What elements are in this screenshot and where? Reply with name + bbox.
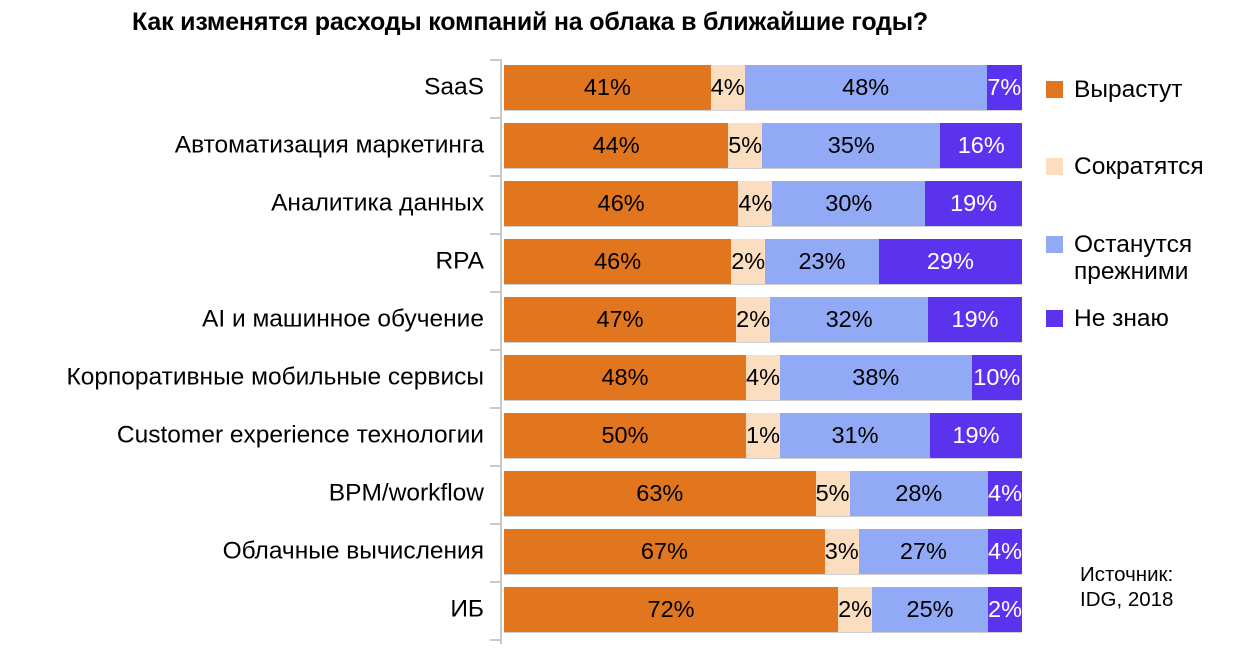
axis-tick <box>490 639 500 641</box>
category-label: SaaS <box>424 75 484 102</box>
axis-tick <box>490 175 500 177</box>
bar-segment-value: 4% <box>738 192 772 216</box>
bar-segment-value: 72% <box>648 598 695 622</box>
axis-tick <box>490 291 500 293</box>
legend-label: Останутся прежними <box>1074 231 1192 286</box>
bar-segment-value: 48% <box>601 366 648 390</box>
category-label: Аналитика данных <box>271 191 484 218</box>
category-label: BPM/workflow <box>329 481 484 508</box>
bar-segment[interactable]: 67% <box>504 529 825 574</box>
bar-segment[interactable]: 63% <box>504 471 816 516</box>
bar-segment-value: 5% <box>816 482 850 506</box>
bar-segment-value: 67% <box>641 540 688 564</box>
chart-title: Как изменятся расходы компаний на облака… <box>0 8 1060 37</box>
category-label: Облачные вычисления <box>223 539 484 566</box>
bar-segment-value: 2% <box>736 308 770 332</box>
bar-segment-value: 35% <box>828 134 875 158</box>
bar-segment[interactable]: 2% <box>731 239 765 284</box>
plot-area: SaaS41%4%48%7%Автоматизация маркетинга44… <box>0 59 1030 660</box>
bar-segment-value: 4% <box>988 540 1022 564</box>
source-note: Источник: IDG, 2018 <box>1080 562 1173 612</box>
bar-segment[interactable]: 23% <box>765 239 879 284</box>
bar-segment-value: 23% <box>798 250 845 274</box>
bar-segment[interactable]: 27% <box>859 529 988 574</box>
bar-segment[interactable]: 28% <box>850 471 988 516</box>
bar-row[interactable]: RPA46%2%23%29% <box>0 233 1030 291</box>
stacked-bar[interactable]: 47%2%32%19% <box>504 297 1022 342</box>
stacked-bar[interactable]: 44%5%35%16% <box>504 123 1022 168</box>
bar-segment-value: 3% <box>825 540 859 564</box>
bar-segment[interactable]: 4% <box>988 471 1022 516</box>
bar-segment-value: 44% <box>593 134 640 158</box>
bar-segment-value: 7% <box>987 76 1021 100</box>
bar-segment[interactable]: 48% <box>745 65 987 110</box>
legend-label: Сократятся <box>1074 153 1204 180</box>
stacked-bar[interactable]: 41%4%48%7% <box>504 65 1022 110</box>
legend-swatch-icon <box>1046 158 1063 175</box>
bar-segment-value: 5% <box>728 134 762 158</box>
legend-swatch-icon <box>1046 310 1063 327</box>
legend-swatch-icon <box>1046 236 1063 253</box>
legend-swatch-icon <box>1046 81 1063 98</box>
bar-row[interactable]: Автоматизация маркетинга44%5%35%16% <box>0 117 1030 175</box>
bar-row[interactable]: Customer experience технологии50%1%31%19… <box>0 407 1030 465</box>
bar-segment[interactable]: 2% <box>838 587 872 632</box>
bar-segment[interactable]: 38% <box>780 355 972 400</box>
bar-segment-value: 29% <box>927 250 974 274</box>
stacked-bar[interactable]: 46%2%23%29% <box>504 239 1022 284</box>
bar-segment[interactable]: 5% <box>728 123 762 168</box>
bar-segment[interactable]: 2% <box>736 297 770 342</box>
bar-segment-value: 46% <box>598 192 645 216</box>
axis-tick <box>490 349 500 351</box>
bar-segment[interactable]: 35% <box>762 123 940 168</box>
bar-segment[interactable]: 41% <box>504 65 711 110</box>
category-label: ИБ <box>450 597 484 624</box>
bar-segment[interactable]: 72% <box>504 587 838 632</box>
stacked-bar[interactable]: 67%3%27%4% <box>504 529 1022 574</box>
legend-item[interactable]: Останутся прежними <box>1046 231 1192 286</box>
bar-segment[interactable]: 4% <box>738 181 772 226</box>
bar-row[interactable]: Облачные вычисления67%3%27%4% <box>0 523 1030 581</box>
stacked-bar[interactable]: 63%5%28%4% <box>504 471 1022 516</box>
bar-segment[interactable]: 25% <box>872 587 988 632</box>
bar-segment-value: 19% <box>952 308 999 332</box>
bar-segment-value: 28% <box>895 482 942 506</box>
bar-segment[interactable]: 3% <box>825 529 859 574</box>
bar-segment-value: 1% <box>746 424 780 448</box>
bar-segment-value: 50% <box>601 424 648 448</box>
bar-segment-value: 4% <box>746 366 780 390</box>
category-label: AI и машинное обучение <box>202 307 484 334</box>
bar-segment[interactable]: 30% <box>772 181 925 226</box>
bar-segment[interactable]: 32% <box>770 297 928 342</box>
bar-segment[interactable]: 4% <box>988 529 1022 574</box>
bar-segment[interactable]: 16% <box>940 123 1022 168</box>
bar-row[interactable]: Аналитика данных46%4%30%19% <box>0 175 1030 233</box>
bar-segment[interactable]: 4% <box>711 65 745 110</box>
bar-segment[interactable]: 46% <box>504 181 738 226</box>
legend-item[interactable]: Не знаю <box>1046 305 1169 332</box>
axis-tick <box>490 117 500 119</box>
bar-segment[interactable]: 44% <box>504 123 728 168</box>
axis-tick <box>490 465 500 467</box>
axis-tick <box>490 581 500 583</box>
bar-segment-value: 19% <box>950 192 997 216</box>
bar-segment[interactable]: 2% <box>988 587 1022 632</box>
bar-row[interactable]: AI и машинное обучение47%2%32%19% <box>0 291 1030 349</box>
bar-segment[interactable]: 19% <box>925 181 1022 226</box>
bar-segment[interactable]: 47% <box>504 297 736 342</box>
category-label: Автоматизация маркетинга <box>175 133 484 160</box>
bar-segment-value: 2% <box>838 598 872 622</box>
bar-segment-value: 38% <box>852 366 899 390</box>
bar-segment-value: 10% <box>973 366 1020 390</box>
bar-segment-value: 63% <box>636 482 683 506</box>
bar-segment-value: 4% <box>988 482 1022 506</box>
bar-segment[interactable]: 4% <box>746 355 780 400</box>
bar-segment[interactable]: 31% <box>780 413 930 458</box>
bar-segment-value: 31% <box>831 424 878 448</box>
bar-row[interactable]: BPM/workflow63%5%28%4% <box>0 465 1030 523</box>
bar-segment-value: 47% <box>597 308 644 332</box>
bar-row[interactable]: SaaS41%4%48%7% <box>0 59 1030 117</box>
bar-segment-value: 41% <box>584 76 631 100</box>
stacked-bar[interactable]: 50%1%31%19% <box>504 413 1022 458</box>
bar-segment[interactable]: 50% <box>504 413 746 458</box>
bar-row[interactable]: Корпоративные мобильные сервисы48%4%38%1… <box>0 349 1030 407</box>
bar-segment-value: 2% <box>731 250 765 274</box>
axis-tick <box>490 407 500 409</box>
bar-segment[interactable]: 19% <box>928 297 1022 342</box>
axis-tick <box>490 523 500 525</box>
legend-label: Вырастут <box>1074 76 1182 103</box>
legend-label: Не знаю <box>1074 305 1169 332</box>
bar-segment-value: 27% <box>900 540 947 564</box>
bar-segment-value: 16% <box>958 134 1005 158</box>
legend-item[interactable]: Вырастут <box>1046 76 1182 103</box>
legend-item[interactable]: Сократятся <box>1046 153 1204 180</box>
category-label: Customer experience технологии <box>117 423 484 450</box>
stacked-bar[interactable]: 72%2%25%2% <box>504 587 1022 632</box>
bar-segment[interactable]: 10% <box>972 355 1022 400</box>
bar-segment-value: 32% <box>826 308 873 332</box>
bar-segment[interactable]: 1% <box>746 413 780 458</box>
bar-segment-value: 48% <box>842 76 889 100</box>
category-label: RPA <box>435 249 484 276</box>
bar-segment[interactable]: 29% <box>879 239 1022 284</box>
bar-segment[interactable]: 48% <box>504 355 746 400</box>
bar-segment-value: 46% <box>594 250 641 274</box>
bar-segment-value: 25% <box>907 598 954 622</box>
bar-segment-value: 4% <box>711 76 745 100</box>
category-label: Корпоративные мобильные сервисы <box>66 365 484 392</box>
stacked-bar[interactable]: 46%4%30%19% <box>504 181 1022 226</box>
stacked-bar[interactable]: 48%4%38%10% <box>504 355 1022 400</box>
bar-segment-value: 2% <box>988 598 1022 622</box>
axis-tick <box>490 233 500 235</box>
bar-segment[interactable]: 7% <box>987 65 1022 110</box>
bar-segment[interactable]: 5% <box>816 471 850 516</box>
bar-segment-value: 30% <box>825 192 872 216</box>
axis-tick <box>490 59 500 61</box>
bar-row[interactable]: ИБ72%2%25%2% <box>0 581 1030 639</box>
bar-segment[interactable]: 46% <box>504 239 731 284</box>
bar-segment-value: 19% <box>952 424 999 448</box>
bar-segment[interactable]: 19% <box>930 413 1022 458</box>
